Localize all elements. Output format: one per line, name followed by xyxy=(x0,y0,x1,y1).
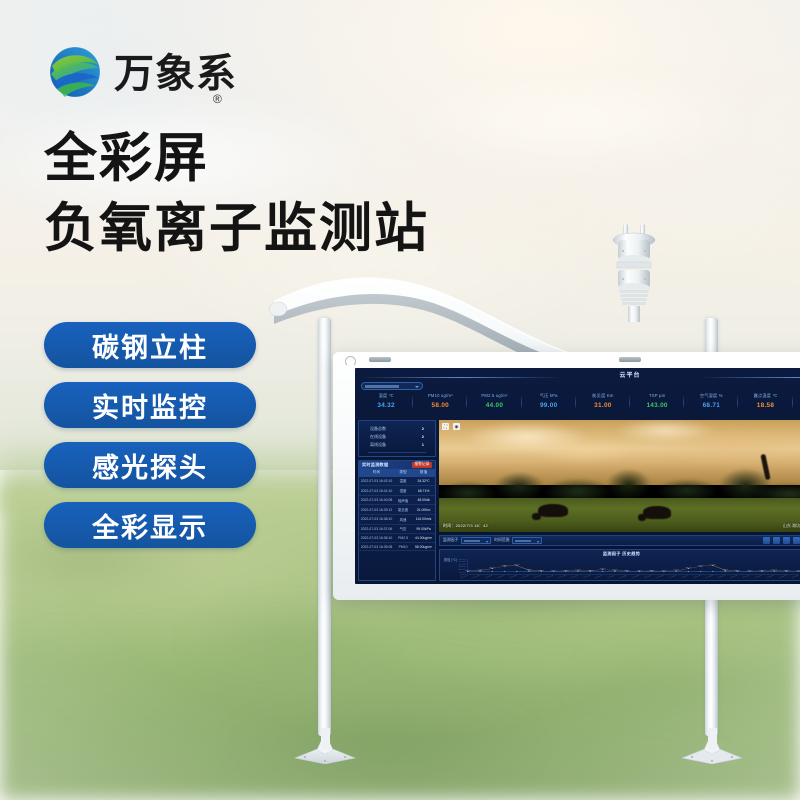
line-chart-icon[interactable] xyxy=(773,537,780,544)
bar-chart-icon[interactable] xyxy=(763,537,770,544)
svg-text:07-02 16: 07-02 16 xyxy=(583,575,591,578)
svg-text:07-04 20: 07-04 20 xyxy=(742,575,750,578)
alert-badge[interactable]: 报警记录 xyxy=(412,462,432,468)
svg-text:12.50: 12.50 xyxy=(587,570,593,571)
fullscreen-icon[interactable]: ⛶ xyxy=(442,423,449,430)
metric-pm25: PM2.5 ug/m³ 44.00 xyxy=(467,392,521,418)
metric-label: 露点温度 ℃ xyxy=(738,392,792,400)
chart-factor-select[interactable] xyxy=(461,537,491,544)
metric-label: 空气湿度 % xyxy=(684,392,738,400)
svg-text:19.00: 19.00 xyxy=(600,568,606,569)
svg-text:07-02 00: 07-02 00 xyxy=(534,575,542,578)
camera-cow-2 xyxy=(643,506,671,519)
dashboard-title: 云平台 xyxy=(355,370,800,379)
svg-text:12.00: 12.00 xyxy=(796,570,800,571)
metric-value: 18.58 xyxy=(738,400,792,411)
chevron-down-icon xyxy=(537,541,539,543)
svg-text:16.00: 16.00 xyxy=(526,569,532,570)
metric-label: 气压 kPa xyxy=(522,392,576,400)
middle-column: ⛶ ◉ 时间：2022/7/3 16：42 山东.潍坊 监测因子 时间范围 xyxy=(439,420,800,581)
svg-text:13.00: 13.00 xyxy=(771,570,777,571)
svg-text:12.00: 12.00 xyxy=(747,570,753,571)
anchor-base-plate-left xyxy=(287,728,363,764)
svg-text:13.00: 13.00 xyxy=(673,570,679,571)
metric-label: 温度 ℃ xyxy=(359,392,413,400)
metric-pm10: PM10 ug/m³ 58.00 xyxy=(413,392,467,418)
camera-cow-2-head xyxy=(638,514,646,521)
camera-watermark: 山东.潍坊 xyxy=(783,523,800,529)
svg-text:33.00: 33.00 xyxy=(514,565,520,566)
log-table: 时间 类型 数值 2022-07-03 16:42:10 温度 34.32℃ xyxy=(359,469,435,552)
svg-text:07-05 08: 07-05 08 xyxy=(779,575,787,578)
stat-value: 2 xyxy=(422,425,424,433)
chart-range-select[interactable] xyxy=(512,537,542,544)
camera-cow-1 xyxy=(538,504,568,517)
table-row[interactable]: 2022-07-03 16:38:10 风速 116.00m/s xyxy=(359,515,435,525)
svg-text:07-03 08: 07-03 08 xyxy=(632,575,640,578)
trend-chart: 监测因子 历史趋势 数值 (℃) 60.0050.0040.0030.0020.… xyxy=(439,549,800,581)
metric-value: 58.00 xyxy=(413,400,467,411)
svg-text:60.00: 60.00 xyxy=(459,559,467,560)
brand-name: 万象系 xyxy=(114,54,237,94)
metric-value: 99.00 xyxy=(522,400,576,411)
svg-text:07-04 08: 07-04 08 xyxy=(705,575,713,578)
headline-line-2: 负氧离子监测站 xyxy=(44,194,429,264)
metric-visibility: 能见度 Km 31.00 xyxy=(576,392,630,418)
table-row[interactable]: 2022-07-03 16:39:12 能见度 31.00Km xyxy=(359,505,435,515)
svg-text:07-02 20: 07-02 20 xyxy=(595,575,603,578)
svg-text:12.00: 12.00 xyxy=(661,570,667,571)
table-row[interactable]: 2022-07-03 16:41:10 湿度 68.71% xyxy=(359,486,435,496)
table-row[interactable]: 2022-07-03 16:35:08 PM10 58.00ug/m³ xyxy=(359,542,435,551)
chevron-down-icon xyxy=(415,386,419,388)
log-panel-title: 实时监测数据 xyxy=(362,462,388,468)
camera-pasture xyxy=(439,498,800,532)
brand-logo: 万象系 ® xyxy=(47,44,237,100)
table-row[interactable]: 2022-07-03 16:40:08 噪声值 48.00db xyxy=(359,495,435,505)
stat-value: 1 xyxy=(422,441,424,449)
metric-label: 噪声 db xyxy=(793,392,800,400)
metric-dewpoint: 露点温度 ℃ 18.58 xyxy=(738,392,792,418)
svg-text:12.50: 12.50 xyxy=(759,570,765,571)
metric-value: 31.00 xyxy=(576,400,630,411)
svg-text:22.00: 22.00 xyxy=(489,567,495,568)
dashboard-screen[interactable]: 云平台 XXXXX科技有限公司 退出 温度 ℃ 34.32 PM10 ug/m³… xyxy=(355,368,800,584)
svg-text:07-05 00: 07-05 00 xyxy=(755,575,763,578)
feature-pill-3: 感光探头 xyxy=(44,442,256,488)
feature-pill-2: 实时监控 xyxy=(44,382,256,428)
divider xyxy=(368,452,426,453)
table-header-row: 时间 类型 数值 xyxy=(359,469,435,477)
svg-text:30.00: 30.00 xyxy=(459,567,467,568)
svg-text:07-04 12: 07-04 12 xyxy=(718,575,726,578)
svg-text:12.00: 12.00 xyxy=(636,570,642,571)
chevron-down-icon xyxy=(486,541,488,543)
svg-text:07-01 08: 07-01 08 xyxy=(485,575,493,578)
svg-text:12.50: 12.50 xyxy=(538,570,544,571)
stat-row: 在线设备 2 xyxy=(364,433,430,441)
column-type: 类型 xyxy=(394,469,412,477)
metric-label: 能见度 Km xyxy=(576,392,630,400)
svg-text:07-04 04: 07-04 04 xyxy=(693,575,701,578)
dashboard-body: 设备总数 2 在线设备 2 离线设备 1 实时监测数据 xyxy=(358,420,800,581)
site-selector-value xyxy=(365,385,399,388)
stat-label: 离线设备 xyxy=(370,441,386,449)
svg-text:12.50: 12.50 xyxy=(624,570,630,571)
svg-text:07-05 04: 07-05 04 xyxy=(767,575,775,578)
svg-text:07-04 16: 07-04 16 xyxy=(730,575,738,578)
svg-text:12.50: 12.50 xyxy=(784,570,790,571)
device-stats-panel: 设备总数 2 在线设备 2 离线设备 1 xyxy=(358,420,436,457)
svg-text:31.50: 31.50 xyxy=(502,565,508,566)
chart-toolbar[interactable]: 监测因子 时间范围 xyxy=(439,535,800,546)
svg-text:40.00: 40.00 xyxy=(459,564,467,565)
metric-value: 68.71 xyxy=(684,400,738,411)
svg-text:07-01 16: 07-01 16 xyxy=(509,575,517,578)
frame-mount-tabs xyxy=(333,352,800,364)
camera-feed[interactable]: ⛶ ◉ 时间：2022/7/3 16：42 山东.潍坊 xyxy=(439,420,800,532)
realtime-log-panel: 实时监测数据 报警记录 时间 类型 数值 2022-07-03 16:42:10 xyxy=(358,460,436,582)
chart-filter-label-2: 时间范围 xyxy=(494,538,509,543)
svg-text:07-01 04: 07-01 04 xyxy=(473,575,481,578)
metric-label: PM10 ug/m³ xyxy=(413,392,467,400)
globe-swoosh-icon xyxy=(47,44,103,100)
metric-temperature: 温度 ℃ 34.32 xyxy=(359,392,413,418)
svg-text:15.50: 15.50 xyxy=(722,569,728,570)
stat-label: 设备总数 xyxy=(370,425,386,433)
snapshot-icon[interactable]: ◉ xyxy=(453,423,460,430)
column-time: 时间 xyxy=(359,469,394,477)
svg-text:07-03 16: 07-03 16 xyxy=(656,575,664,578)
metric-value: 44.00 xyxy=(467,400,521,411)
svg-text:07-05 12: 07-05 12 xyxy=(791,575,799,578)
site-selector[interactable] xyxy=(361,382,423,390)
svg-text:13.00: 13.00 xyxy=(575,570,581,571)
left-column: 设备总数 2 在线设备 2 离线设备 1 实时监测数据 xyxy=(358,420,436,581)
dashboard-header: 云平台 xyxy=(355,368,800,384)
camera-cow-1-head xyxy=(532,513,541,520)
svg-text:22.00: 22.00 xyxy=(685,567,691,568)
svg-text:12.50: 12.50 xyxy=(735,570,741,571)
metric-noise: 噪声 db 48.00 xyxy=(793,392,800,418)
svg-text:07-02 08: 07-02 08 xyxy=(558,575,566,578)
stat-label: 在线设备 xyxy=(370,433,386,441)
headline-line-1: 全彩屏 xyxy=(44,124,429,194)
svg-text:07-02 12: 07-02 12 xyxy=(571,575,579,578)
svg-text:07-03 04: 07-03 04 xyxy=(620,575,628,578)
feature-pill-4: 全彩显示 xyxy=(44,502,256,548)
svg-text:07-03 20: 07-03 20 xyxy=(669,575,677,578)
chart-filter-label-1: 监测因子 xyxy=(443,538,458,543)
metric-label: TSP μm xyxy=(630,392,684,400)
svg-text:07-01 20: 07-01 20 xyxy=(522,575,530,578)
metric-value: 34.32 xyxy=(359,400,413,411)
stat-value: 2 xyxy=(422,433,424,441)
chart-canvas: 60.0050.0040.0030.0020.0010.000.0012.001… xyxy=(440,557,800,580)
metric-value: 48.00 xyxy=(793,400,800,411)
feature-pill-1: 碳钢立柱 xyxy=(44,322,256,368)
svg-text:12.50: 12.50 xyxy=(563,570,569,571)
metric-pressure: 气压 kPa 99.00 xyxy=(522,392,576,418)
stat-row: 离线设备 1 xyxy=(364,441,430,449)
stat-row: 设备总数 2 xyxy=(364,425,430,433)
mount-tab-2 xyxy=(619,357,641,362)
svg-text:07-03 00: 07-03 00 xyxy=(607,575,615,578)
table-row[interactable]: 2022-07-03 16:36:10 PM2.5 44.00ug/m³ xyxy=(359,534,435,543)
feature-pill-list: 碳钢立柱 实时监控 感光探头 全彩显示 xyxy=(44,322,256,562)
svg-text:12.50: 12.50 xyxy=(649,570,655,571)
metric-humidity: 空气湿度 % 68.71 xyxy=(684,392,738,418)
log-panel-header: 实时监测数据 报警记录 xyxy=(359,461,435,469)
table-row[interactable]: 2022-07-03 16:42:10 温度 34.32℃ xyxy=(359,477,435,486)
camera-controls[interactable]: ⛶ ◉ xyxy=(442,423,460,430)
svg-text:10.00: 10.00 xyxy=(459,572,467,573)
metric-label: PM2.5 ug/m³ xyxy=(467,392,521,400)
svg-text:50.00: 50.00 xyxy=(459,561,467,562)
metric-strip: 温度 ℃ 34.32 PM10 ug/m³ 58.00 PM2.5 ug/m³ … xyxy=(355,392,800,418)
page-title: 全彩屏 负氧离子监测站 xyxy=(44,124,429,264)
svg-text:12.00: 12.00 xyxy=(551,570,557,571)
svg-text:14.50: 14.50 xyxy=(477,569,483,570)
download-icon[interactable] xyxy=(783,537,790,544)
svg-text:12.00: 12.00 xyxy=(465,570,471,571)
metric-value: 143.00 xyxy=(630,400,684,411)
svg-text:31.00: 31.00 xyxy=(698,565,704,566)
camera-timestamp: 时间：2022/7/3 16：42 xyxy=(443,523,488,529)
mount-tab-1 xyxy=(369,357,391,362)
metric-tsp: TSP μm 143.00 xyxy=(630,392,684,418)
more-icon[interactable] xyxy=(793,537,800,544)
svg-text:34.00: 34.00 xyxy=(710,564,716,565)
column-value: 数值 xyxy=(412,469,435,477)
svg-text:07-02 04: 07-02 04 xyxy=(546,575,554,578)
svg-text:07-04 00: 07-04 00 xyxy=(681,575,689,578)
anchor-base-plate-right xyxy=(674,728,750,764)
trademark-symbol: ® xyxy=(213,92,222,106)
svg-text:13.50: 13.50 xyxy=(612,570,618,571)
svg-text:07-03 12: 07-03 12 xyxy=(644,575,652,578)
svg-text:07-01 12: 07-01 12 xyxy=(497,575,505,578)
table-row[interactable]: 2022-07-03 16:37:06 气压 99.00kPa xyxy=(359,524,435,534)
svg-text:07-01 00: 07-01 00 xyxy=(460,575,468,578)
